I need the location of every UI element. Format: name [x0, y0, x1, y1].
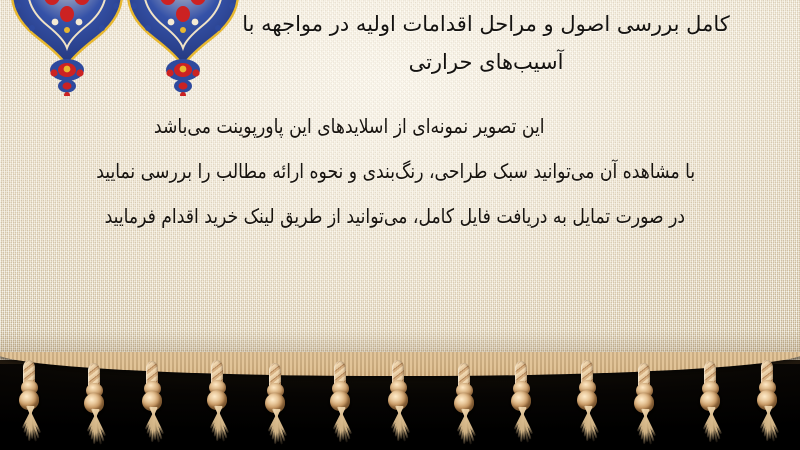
carpet-fringe-tassel — [135, 359, 169, 445]
carpet-fringe-tassel — [12, 358, 46, 444]
fringe-threads — [326, 407, 356, 445]
fringe-threads — [203, 406, 233, 444]
slide-title-line-2: آسیب‌های حرارتی — [186, 44, 786, 80]
carpet-fringe-tassel — [258, 361, 292, 447]
carpet-fringe-tassel — [570, 358, 604, 444]
fringe-threads — [630, 409, 660, 447]
carpet-fringe-tassel — [693, 359, 727, 445]
carpet-fringe-tassel — [381, 358, 415, 444]
slide-body-line-3: در صورت تمایل به دریافت فایل کامل، می‌تو… — [56, 194, 744, 239]
medallion-left-icon — [8, 0, 126, 96]
fringe-threads — [384, 406, 414, 444]
slide-canvas: کامل بررسی اصول و مراحل اقدامات اولیه در… — [0, 0, 800, 450]
carpet-fringe-tassel — [504, 359, 538, 445]
fringe-threads — [696, 407, 726, 445]
slide-body-line-2: با مشاهده آن می‌توانید سبک طراحی، رنگ‌بن… — [56, 149, 744, 194]
carpet-fringe-row — [0, 358, 800, 450]
carpet-fringe-tassel — [323, 359, 357, 445]
fringe-threads — [80, 409, 110, 447]
fringe-threads — [15, 406, 45, 444]
slide-title-line-1: کامل بررسی اصول و مراحل اقدامات اولیه در… — [186, 6, 786, 42]
slide-body: این تصویر نمونه‌ای از اسلایدهای این پاور… — [0, 104, 800, 239]
fringe-threads — [753, 406, 783, 444]
fringe-threads — [261, 409, 291, 447]
carpet-fringe-tassel — [447, 361, 481, 447]
slide-body-line-1: این تصویر نمونه‌ای از اسلایدهای این پاور… — [56, 104, 744, 149]
carpet-fringe-tassel — [77, 361, 111, 447]
fringe-threads — [450, 409, 480, 447]
carpet-fringe-tassel — [200, 358, 234, 444]
fringe-threads — [507, 407, 537, 445]
fringe-threads — [138, 407, 168, 445]
carpet-fringe-tassel — [750, 358, 784, 444]
carpet-fringe-tassel — [627, 361, 661, 447]
fringe-threads — [573, 406, 603, 444]
persian-medallion-motif-left — [8, 0, 126, 96]
slide-title: کامل بررسی اصول و مراحل اقدامات اولیه در… — [186, 6, 786, 80]
